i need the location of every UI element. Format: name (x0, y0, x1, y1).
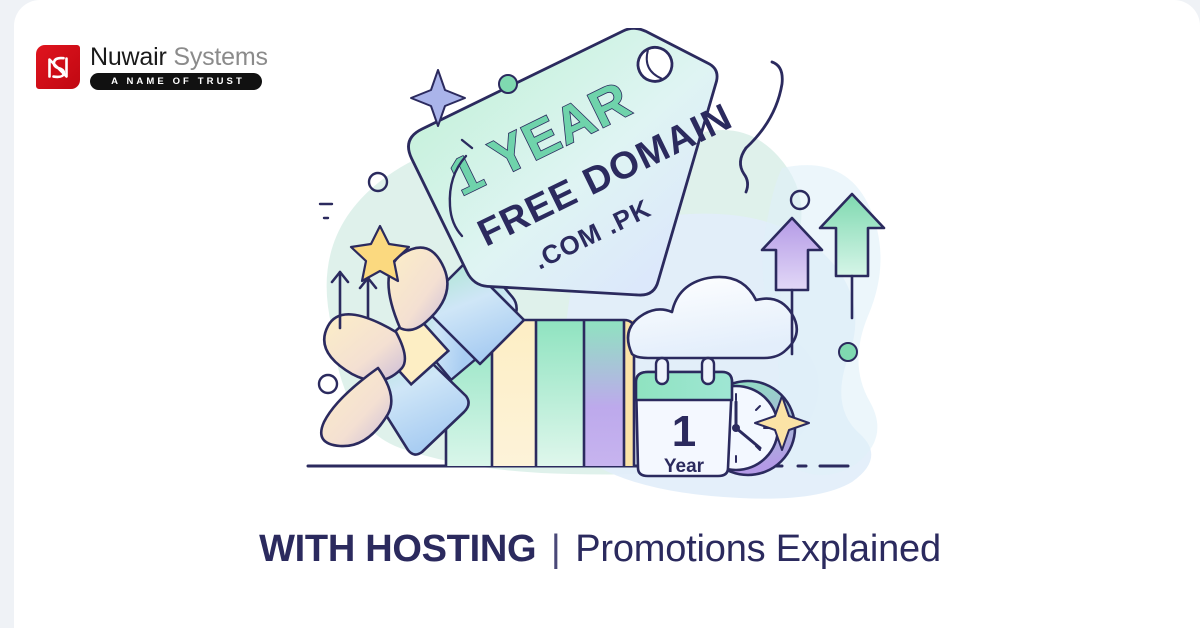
decor-dot-green-1 (499, 75, 517, 93)
ns-monogram-icon (36, 45, 80, 89)
brand-name: Nuwair Systems (90, 44, 268, 70)
page-title: WITH HOSTING | Promotions Explained (0, 524, 1200, 574)
decor-dot-green-2 (839, 343, 857, 361)
hero-illustration: 1 Year 1 YEAR FREE DOMAIN .COM .PK (270, 28, 930, 508)
banner-page: Nuwair Systems A NAME OF TRUST (0, 0, 1200, 628)
calendar-icon: 1 Year (636, 358, 732, 477)
decor-circle-outline-2 (319, 375, 337, 393)
title-regular-part: Promotions Explained (575, 528, 941, 570)
title-separator: | (547, 528, 565, 570)
decor-dash-marks (320, 204, 332, 218)
calendar-unit: Year (664, 456, 705, 477)
tag-string (746, 62, 782, 148)
brand-text: Nuwair Systems A NAME OF TRUST (90, 44, 268, 90)
calendar-number: 1 (672, 407, 696, 456)
brand-name-primary: Nuwair (90, 43, 167, 71)
brand-name-secondary: Systems (173, 43, 267, 71)
brand-logo[interactable]: Nuwair Systems A NAME OF TRUST (36, 44, 268, 90)
brand-tagline: A NAME OF TRUST (90, 73, 262, 90)
title-bold-part: WITH HOSTING (259, 528, 536, 570)
